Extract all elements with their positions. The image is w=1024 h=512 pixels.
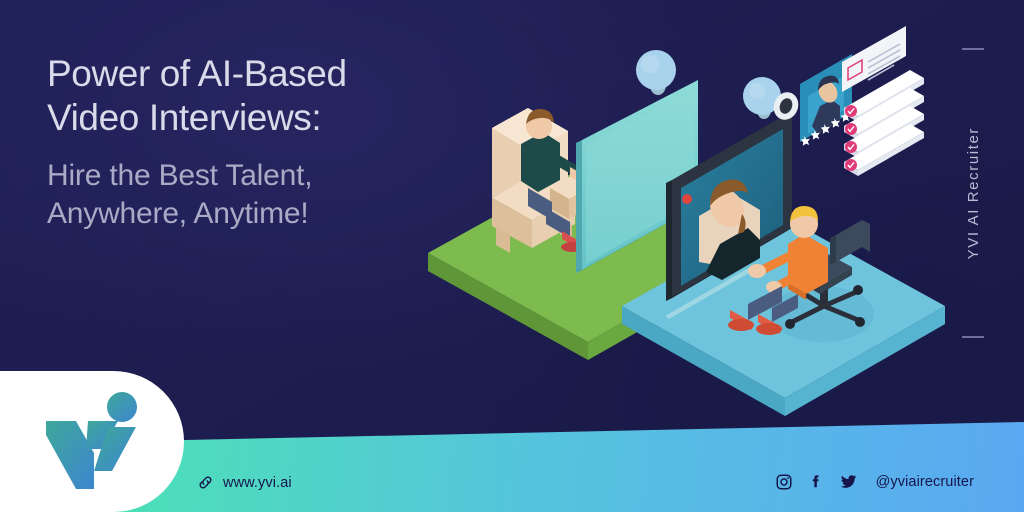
social-handle: @yviairecruiter [876,474,974,490]
checklist-panel [842,26,924,176]
website-link[interactable]: www.yvi.ai [197,474,292,491]
facebook-icon[interactable] [807,473,825,491]
poster-canvas: Power of AI-Based Video Interviews: Hire… [0,0,1024,512]
logo-panel [0,371,184,512]
instagram-icon[interactable] [775,473,793,491]
yvi-logo[interactable] [42,391,144,495]
ai-video-interview-illustration [400,48,970,378]
website-url: www.yvi.ai [223,475,292,491]
twitter-icon[interactable] [839,472,858,491]
social-links: @yviairecruiter [775,472,974,491]
link-icon [197,474,214,491]
